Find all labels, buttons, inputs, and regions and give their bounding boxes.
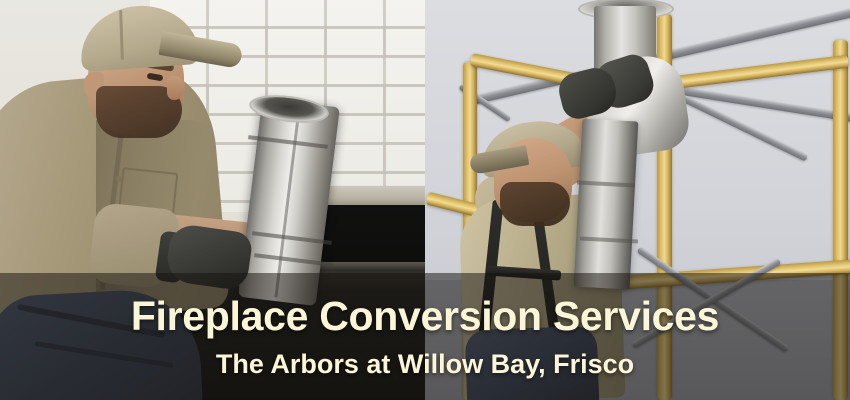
caption-overlay bbox=[0, 273, 850, 400]
shirt-button bbox=[116, 176, 122, 182]
worker-beard bbox=[500, 182, 570, 226]
chimney-stack bbox=[574, 119, 639, 290]
service-banner: Fireplace Conversion Services The Arbors… bbox=[0, 0, 850, 400]
